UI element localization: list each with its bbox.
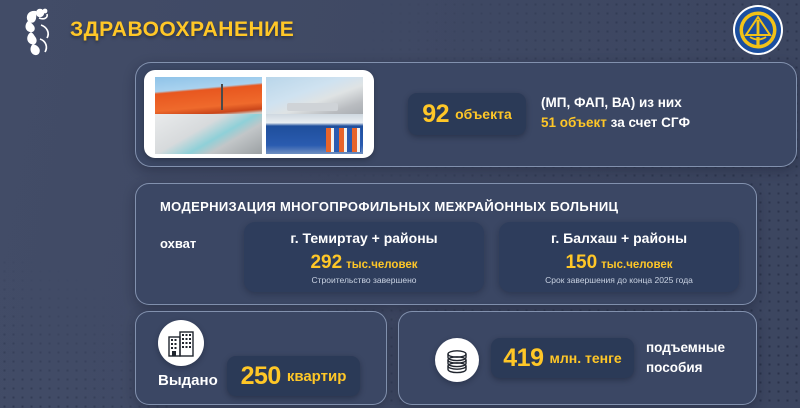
facility-photo-collage xyxy=(144,70,374,158)
modernization-title: МОДЕРНИЗАЦИЯ МНОГОПРОФИЛЬНЫХ МЕЖРАЙОННЫХ… xyxy=(160,199,618,214)
apartments-count-value: 250 xyxy=(241,362,281,391)
apartments-count-unit: квартир xyxy=(287,368,347,385)
allowances-amount-value: 419 xyxy=(503,344,543,373)
allowances-amount-unit: млн. тенге xyxy=(550,350,622,366)
apartments-card: Выдано 250 квартир xyxy=(135,311,387,405)
modernization-card: МОДЕРНИЗАЦИЯ МНОГОПРОФИЛЬНЫХ МЕЖРАЙОННЫХ… xyxy=(135,183,757,305)
karaganda-region-emblem-icon xyxy=(732,4,784,56)
objects-note-rest: за счет СГФ xyxy=(607,115,690,130)
photo-clinic-interior-corridor xyxy=(155,114,262,154)
objects-note-highlight: 51 объект xyxy=(541,115,607,130)
objects-note-line1: (МП, ФАП, ВА) из них xyxy=(541,93,771,113)
snow-leopard-crest-icon xyxy=(14,5,60,57)
city-coverage-unit: тыс.человек xyxy=(601,259,672,271)
stacked-coins-icon xyxy=(435,338,479,382)
objects-count-unit: объекта xyxy=(455,106,512,122)
city-panel-balkhash: г. Балхаш + районы 150тыс.человек Срок з… xyxy=(499,222,739,292)
city-coverage-value: 150 xyxy=(565,252,597,273)
city-name: г. Балхаш + районы xyxy=(499,230,739,246)
city-status: Срок завершения до конца 2025 года xyxy=(499,275,739,285)
city-figure: 292тыс.человек xyxy=(244,252,484,274)
city-figure: 150тыс.человек xyxy=(499,252,739,274)
allowances-description-line2: пособия xyxy=(646,358,725,378)
allowances-amount-badge: 419 млн. тенге xyxy=(491,338,634,378)
slide-header: ЗДРАВООХРАНЕНИЕ xyxy=(0,0,800,62)
objects-note-line2: 51 объект за счет СГФ xyxy=(541,113,771,133)
apartment-building-icon xyxy=(158,320,204,366)
allowances-description: подъемные пособия xyxy=(646,338,725,379)
objects-card: 92 объекта (МП, ФАП, ВА) из них 51 объек… xyxy=(135,62,797,167)
apartments-count-badge: 250 квартир xyxy=(227,356,360,396)
city-status: Строительство завершено xyxy=(244,275,484,285)
allowances-card: 419 млн. тенге подъемные пособия xyxy=(398,311,757,405)
allowances-description-line1: подъемные xyxy=(646,338,725,358)
city-coverage-unit: тыс.человек xyxy=(346,259,417,271)
objects-count-badge: 92 объекта xyxy=(408,93,526,135)
objects-count-value: 92 xyxy=(422,100,449,129)
coverage-label: охват xyxy=(160,236,196,251)
page-title: ЗДРАВООХРАНЕНИЕ xyxy=(70,18,294,42)
photo-blue-white-clinic-building xyxy=(266,114,363,154)
city-name: г. Темиртау + районы xyxy=(244,230,484,246)
city-coverage-value: 292 xyxy=(310,252,342,273)
city-panel-temirtau: г. Темиртау + районы 292тыс.человек Стро… xyxy=(244,222,484,292)
apartments-label: Выдано xyxy=(158,372,218,389)
objects-note: (МП, ФАП, ВА) из них 51 объект за счет С… xyxy=(541,93,771,132)
